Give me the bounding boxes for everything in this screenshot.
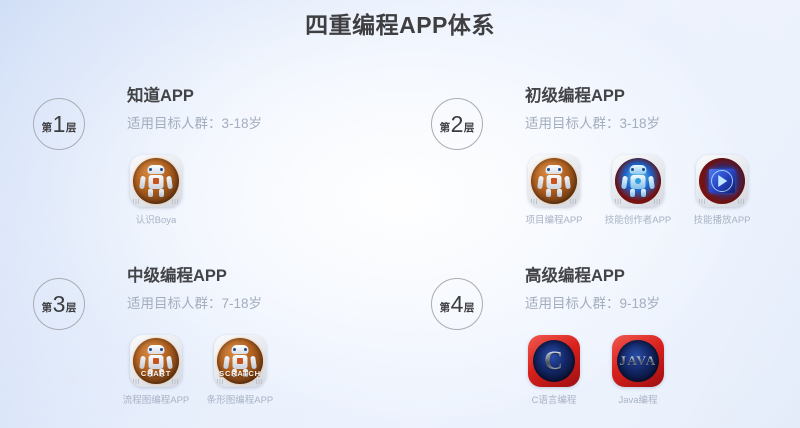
badge-prefix: 第 xyxy=(440,303,451,314)
robot-arm-right xyxy=(250,356,257,370)
robot-glyph xyxy=(621,164,655,198)
play-button-icon[interactable] xyxy=(696,155,748,207)
layer-heading-2: 初级编程APP 适用目标人群：3-18岁 xyxy=(525,85,660,134)
layer-badge-2: 第 2 层 xyxy=(431,98,483,150)
app-row-1: 认识Boya xyxy=(122,155,190,227)
badge-suffix: 层 xyxy=(66,123,77,134)
grip-right-icon xyxy=(172,199,179,204)
java-icon[interactable]: JAVA xyxy=(612,335,664,387)
badge-prefix: 第 xyxy=(440,123,451,134)
robot-blue-red-icon[interactable] xyxy=(612,155,664,207)
robot-glyph xyxy=(139,164,173,198)
app-label: 技能播放APP xyxy=(693,215,750,227)
robot-arm-left xyxy=(621,176,628,190)
robot-chest xyxy=(551,178,557,184)
badge-number: 2 xyxy=(451,113,464,136)
page-title: 四重编程APP体系 xyxy=(0,10,800,40)
layer-heading-3: 中级编程APP 适用目标人群：7-18岁 xyxy=(127,265,262,314)
robot-chest xyxy=(153,358,159,364)
layer-heading-1: 知道APP 适用目标人群：3-18岁 xyxy=(127,85,262,134)
robot-eye-left xyxy=(149,348,152,351)
grip-right-icon xyxy=(570,199,577,204)
robot-eye-left xyxy=(149,168,152,171)
badge-suffix: 层 xyxy=(66,303,77,314)
layer-title: 高级编程APP xyxy=(525,265,660,287)
robot-arm-left xyxy=(139,176,146,190)
robot-glyph xyxy=(537,164,571,198)
robot-orange-icon[interactable] xyxy=(528,155,580,207)
app-item[interactable]: 技能创作者APP xyxy=(604,155,672,227)
badge-prefix: 第 xyxy=(42,123,53,134)
layer-badge-3: 第 3 层 xyxy=(33,278,85,330)
robot-arm-left xyxy=(537,176,544,190)
icon-banner-text: SCRATCH xyxy=(219,369,261,378)
robot-leg-right xyxy=(159,189,164,197)
app-label: 条形图编程APP xyxy=(207,395,274,407)
layer-audience: 适用目标人群：9-18岁 xyxy=(525,294,660,314)
layer-audience: 适用目标人群：3-18岁 xyxy=(525,114,660,134)
app-label: Java编程 xyxy=(618,395,657,407)
robot-eye-left xyxy=(631,168,634,171)
app-item[interactable]: JAVA Java编程 xyxy=(604,335,672,407)
grip-left-icon xyxy=(531,199,538,204)
layer-heading-4: 高级编程APP 适用目标人群：9-18岁 xyxy=(525,265,660,314)
app-row-4: C C语言编程 JAVA Java编程 xyxy=(520,335,672,407)
app-row-2: 项目编程APP xyxy=(520,155,756,227)
robot-chest xyxy=(635,178,641,184)
app-label: C语言编程 xyxy=(532,395,577,407)
grip-left-icon xyxy=(217,379,224,384)
robot-chest xyxy=(237,358,243,364)
layer-title: 初级编程APP xyxy=(525,85,660,107)
robot-scratch-icon[interactable]: SCRATCH xyxy=(214,335,266,387)
c-glyph: C xyxy=(544,346,564,376)
robot-leg-left xyxy=(546,189,551,197)
app-item[interactable]: SCRATCH 条形图编程APP xyxy=(206,335,274,407)
poster-canvas: 四重编程APP体系 第 1 层 知道APP 适用目标人群：3-18岁 xyxy=(0,0,800,428)
play-triangle-icon xyxy=(718,175,727,187)
grip-left-icon xyxy=(699,199,706,204)
grip-right-icon xyxy=(256,379,263,384)
java-glyph: JAVA xyxy=(619,353,656,369)
app-item[interactable]: 项目编程APP xyxy=(520,155,588,227)
robot-orange-icon[interactable] xyxy=(130,155,182,207)
robot-arm-right xyxy=(166,356,173,370)
badge-suffix: 层 xyxy=(464,303,475,314)
icon-banner-text: CHART xyxy=(141,369,171,378)
badge-prefix: 第 xyxy=(42,303,53,314)
robot-arm-right xyxy=(648,176,655,190)
robot-leg-left xyxy=(148,189,153,197)
layer-badge-4: 第 4 层 xyxy=(431,278,483,330)
app-row-3: CHART 流程图编程APP xyxy=(122,335,274,407)
grip-right-icon xyxy=(654,199,661,204)
c-language-icon[interactable]: C xyxy=(528,335,580,387)
app-label: 流程图编程APP xyxy=(123,395,190,407)
robot-eye-right xyxy=(160,348,163,351)
app-item[interactable]: C C语言编程 xyxy=(520,335,588,407)
app-item[interactable]: 技能播放APP xyxy=(688,155,756,227)
badge-number: 3 xyxy=(53,293,66,316)
badge-number: 4 xyxy=(451,293,464,316)
grip-left-icon xyxy=(133,379,140,384)
robot-leg-right xyxy=(641,189,646,197)
app-item[interactable]: CHART 流程图编程APP xyxy=(122,335,190,407)
robot-eye-right xyxy=(642,168,645,171)
robot-chart-icon[interactable]: CHART xyxy=(130,335,182,387)
robot-eye-right xyxy=(558,168,561,171)
robot-arm-left xyxy=(223,356,230,370)
app-label: 项目编程APP xyxy=(525,215,582,227)
robot-eye-right xyxy=(160,168,163,171)
grip-right-icon xyxy=(738,199,745,204)
robot-arm-left xyxy=(139,356,146,370)
badge-number: 1 xyxy=(53,113,66,136)
robot-chest xyxy=(153,178,159,184)
robot-leg-left xyxy=(630,189,635,197)
grip-left-icon xyxy=(615,199,622,204)
app-item[interactable]: 认识Boya xyxy=(122,155,190,227)
grip-right-icon xyxy=(172,379,179,384)
layer-audience: 适用目标人群：3-18岁 xyxy=(127,114,262,134)
grip-left-icon xyxy=(133,199,140,204)
layer-audience: 适用目标人群：7-18岁 xyxy=(127,294,262,314)
layer-badge-1: 第 1 层 xyxy=(33,98,85,150)
robot-eye-left xyxy=(547,168,550,171)
robot-leg-right xyxy=(557,189,562,197)
robot-eye-left xyxy=(233,348,236,351)
badge-suffix: 层 xyxy=(464,123,475,134)
robot-eye-right xyxy=(244,348,247,351)
robot-arm-right xyxy=(564,176,571,190)
layer-title: 中级编程APP xyxy=(127,265,262,287)
robot-arm-right xyxy=(166,176,173,190)
app-label: 技能创作者APP xyxy=(605,215,672,227)
app-label: 认识Boya xyxy=(136,215,177,227)
layer-title: 知道APP xyxy=(127,85,262,107)
